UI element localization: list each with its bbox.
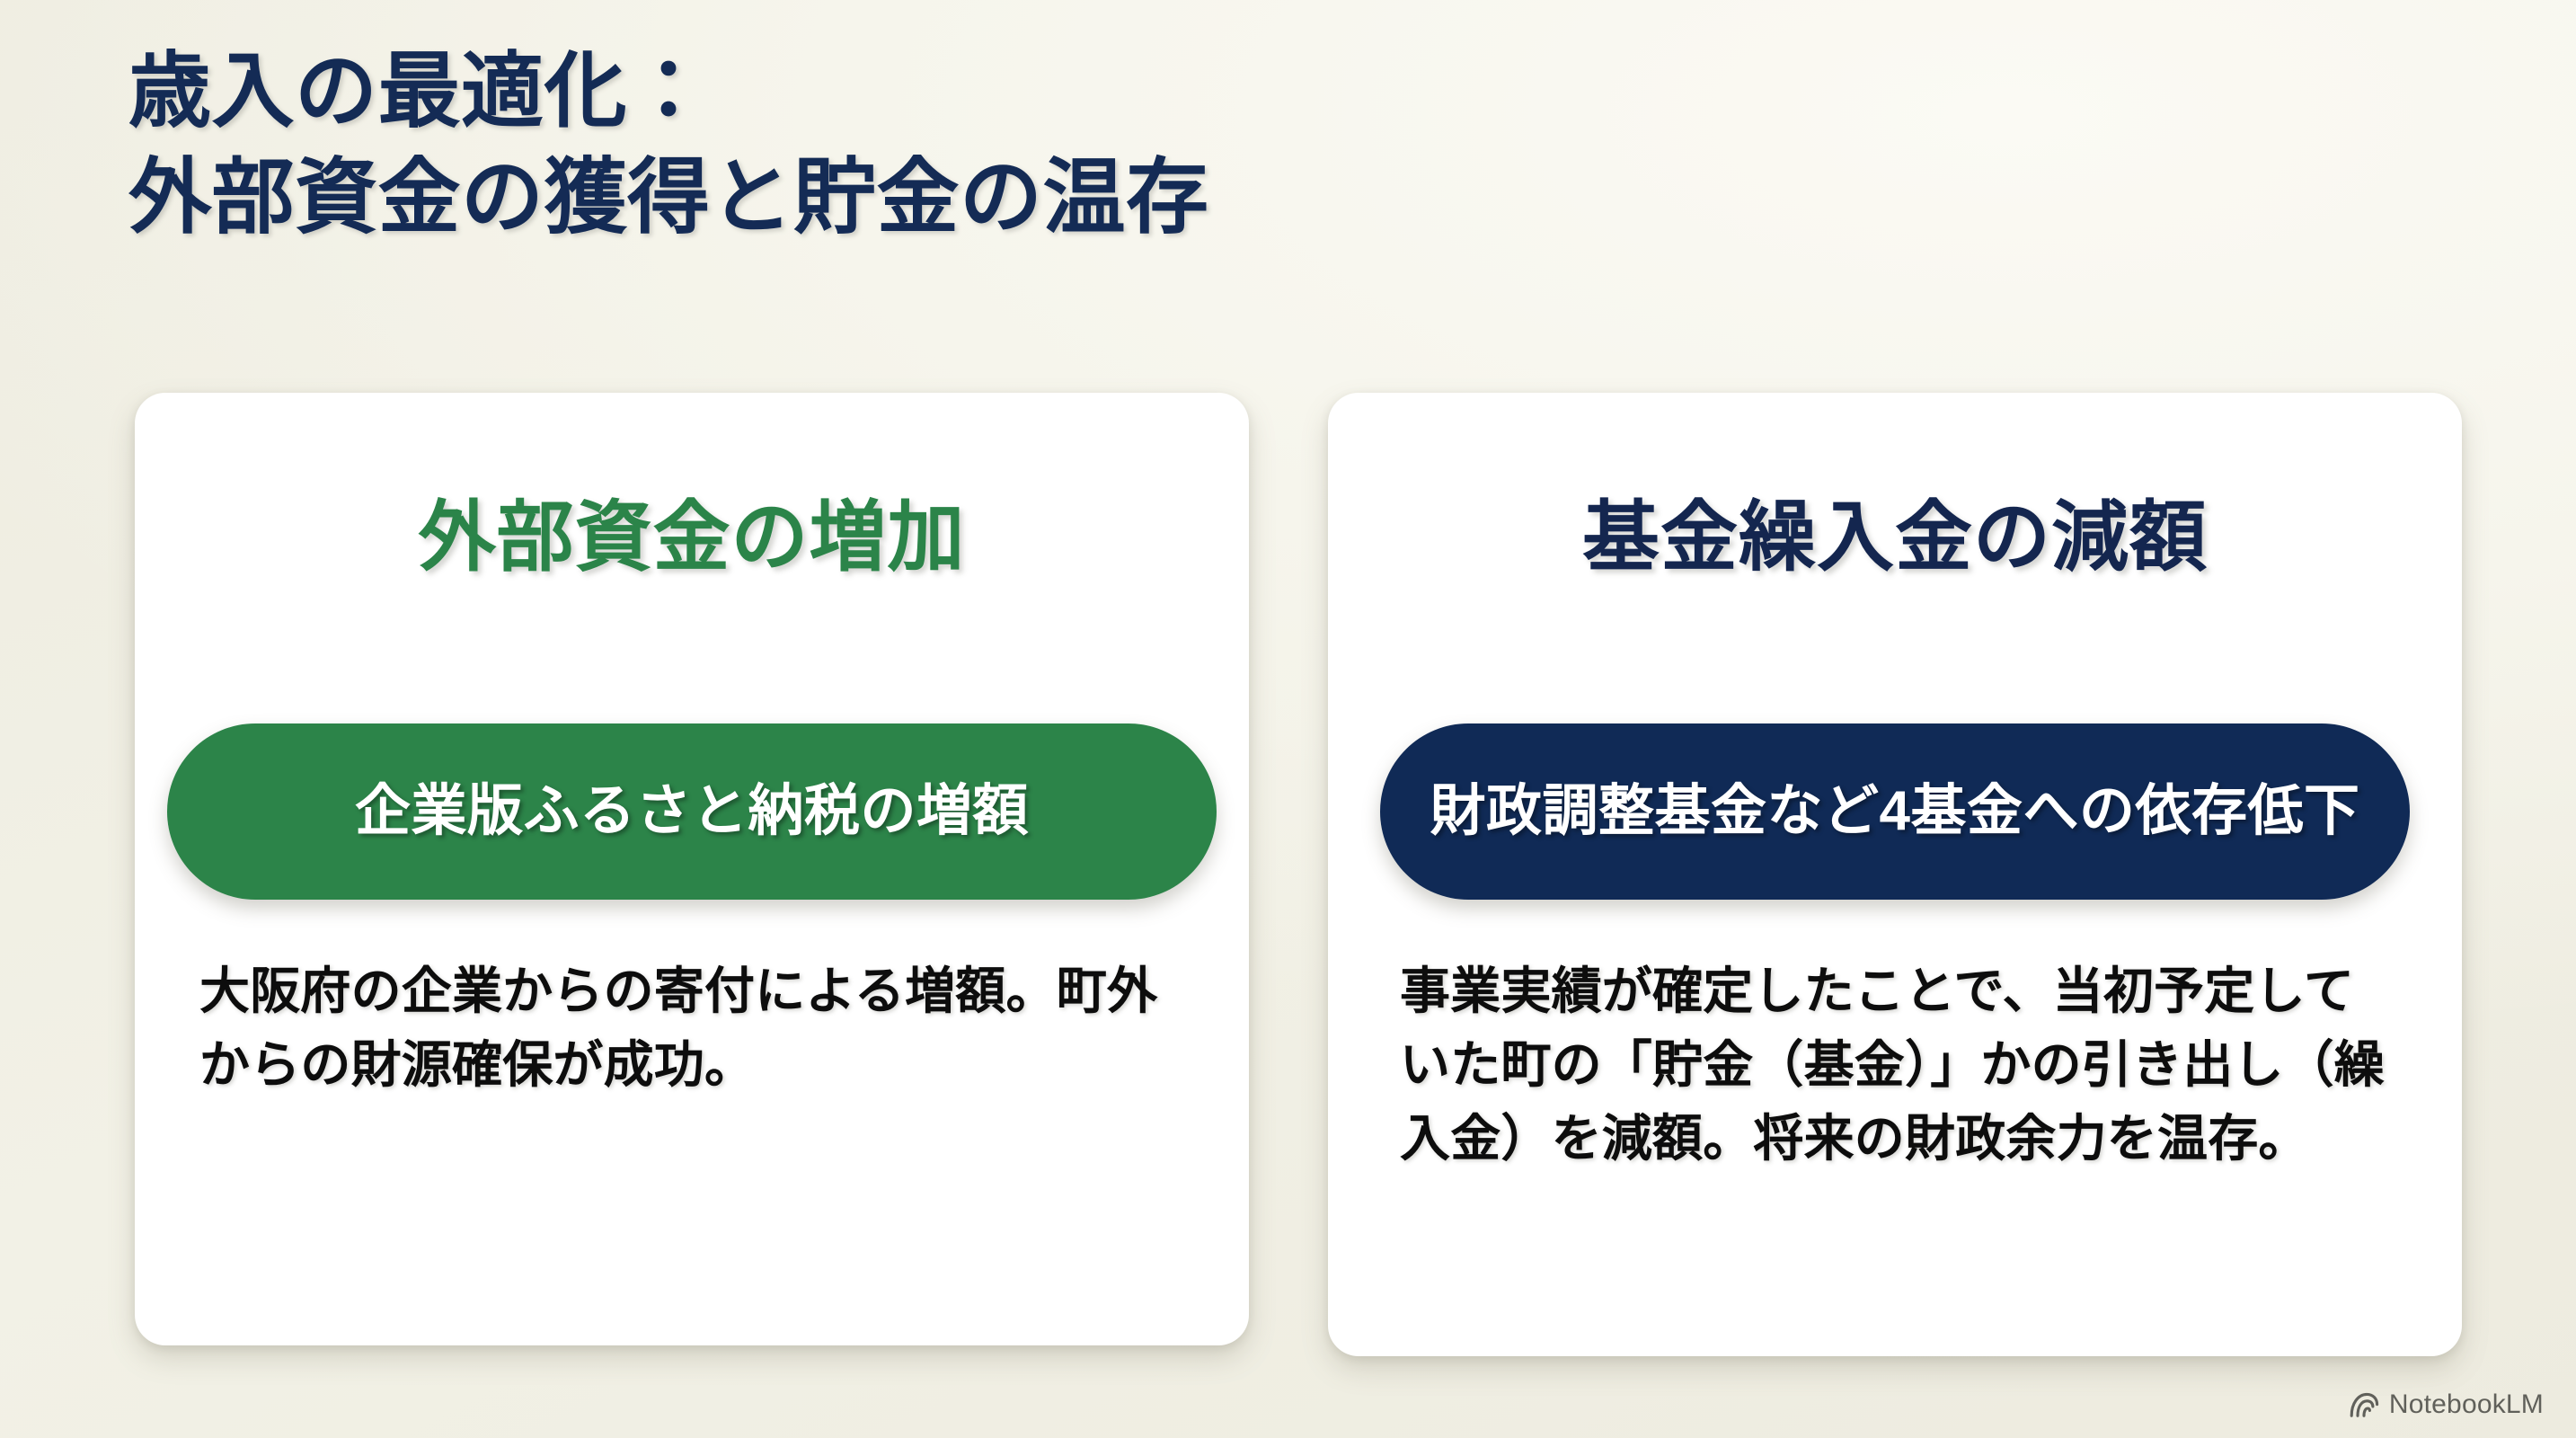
card-heading-fund-transfer-reduction: 基金繰入金の減額 <box>1328 499 2462 576</box>
card-fund-transfer-reduction: 基金繰入金の減額 財政調整基金など4基金への依存低下 事業実績が確定したことで、… <box>1328 393 2462 1356</box>
pill-badge-fund-transfer-reduction: 財政調整基金など4基金への依存低下 <box>1380 723 2410 900</box>
card-body-fund-transfer-reduction: 事業実績が確定したことで、当初予定していた町の「貯金（基金）」かの引き出し（繰入… <box>1400 954 2397 1175</box>
pill-label-fund-transfer-reduction: 財政調整基金など4基金への依存低下 <box>1430 784 2360 839</box>
notebooklm-icon <box>2349 1391 2379 1418</box>
card-heading-external-funding: 外部資金の増加 <box>135 499 1249 576</box>
card-external-funding: 外部資金の増加 企業版ふるさと納税の増額 大阪府の企業からの寄付による増額。町外… <box>135 393 1249 1345</box>
card-container: 外部資金の増加 企業版ふるさと納税の増額 大阪府の企業からの寄付による増額。町外… <box>0 0 2576 1438</box>
pill-badge-external-funding: 企業版ふるさと納税の増額 <box>167 723 1217 900</box>
notebooklm-label: NotebookLM <box>2389 1391 2544 1418</box>
slide-canvas: 歳入の最適化： 外部資金の獲得と貯金の温存 外部資金の増加 企業版ふるさと納税の… <box>0 0 2576 1438</box>
card-body-external-funding: 大阪府の企業からの寄付による増額。町外からの財源確保が成功。 <box>199 954 1186 1102</box>
notebooklm-watermark: NotebookLM <box>2349 1391 2544 1418</box>
pill-label-external-funding: 企業版ふるさと納税の増額 <box>355 784 1029 839</box>
